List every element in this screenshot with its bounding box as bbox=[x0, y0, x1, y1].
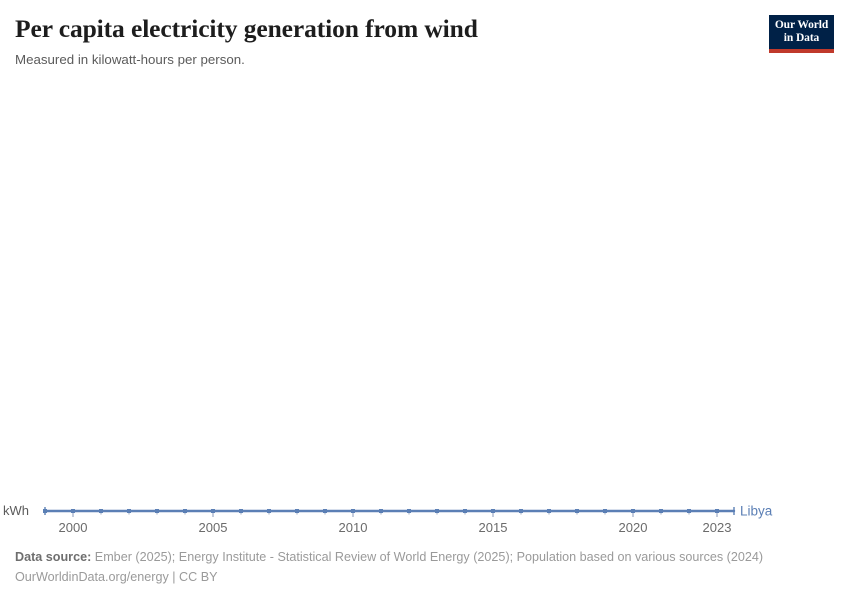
data-point-marker[interactable] bbox=[127, 509, 131, 513]
data-point-marker[interactable] bbox=[407, 509, 411, 513]
data-source-text: Ember (2025); Energy Institute - Statist… bbox=[91, 550, 763, 564]
chart-plot-area[interactable]: 200020052010201520202023 0 kWh Libya bbox=[0, 80, 850, 535]
data-point-marker[interactable] bbox=[155, 509, 159, 513]
data-point-marker[interactable] bbox=[295, 509, 299, 513]
data-point-marker[interactable] bbox=[491, 509, 495, 513]
series-group[interactable] bbox=[43, 507, 734, 515]
chart-footer: Data source: Ember (2025); Energy Instit… bbox=[15, 547, 835, 587]
series-label-libya[interactable]: Libya bbox=[740, 504, 773, 519]
data-point-marker[interactable] bbox=[267, 509, 271, 513]
data-point-marker[interactable] bbox=[463, 509, 467, 513]
y-axis-label: 0 kWh bbox=[0, 503, 45, 518]
x-axis-tick-label: 2005 bbox=[199, 520, 228, 535]
x-axis-tick-label: 2000 bbox=[59, 520, 88, 535]
data-point-marker[interactable] bbox=[519, 509, 523, 513]
x-axis-tick-label: 2015 bbox=[479, 520, 508, 535]
chart-subtitle: Measured in kilowatt-hours per person. bbox=[15, 52, 245, 67]
data-point-marker[interactable] bbox=[99, 509, 103, 513]
data-point-marker[interactable] bbox=[603, 509, 607, 513]
data-point-marker[interactable] bbox=[183, 509, 187, 513]
x-axis-tick-label: 2023 bbox=[703, 520, 732, 535]
data-point-marker[interactable] bbox=[547, 509, 551, 513]
data-point-marker[interactable] bbox=[351, 509, 355, 513]
series-end-label[interactable]: Libya bbox=[740, 504, 773, 519]
attribution-line[interactable]: OurWorldinData.org/energy | CC BY bbox=[15, 567, 835, 587]
line-chart-svg: 200020052010201520202023 0 kWh Libya bbox=[0, 80, 850, 535]
owid-logo-line1: Our World bbox=[769, 19, 834, 32]
data-point-marker[interactable] bbox=[71, 509, 75, 513]
y-axis-zero-label: 0 kWh bbox=[0, 503, 29, 518]
data-source-line: Data source: Ember (2025); Energy Instit… bbox=[15, 547, 835, 567]
data-point-marker[interactable] bbox=[379, 509, 383, 513]
data-point-marker[interactable] bbox=[323, 509, 327, 513]
owid-logo[interactable]: Our World in Data bbox=[769, 15, 834, 53]
page-title: Per capita electricity generation from w… bbox=[15, 14, 478, 44]
data-point-marker[interactable] bbox=[687, 509, 691, 513]
x-axis-tick-label: 2020 bbox=[619, 520, 648, 535]
data-point-marker[interactable] bbox=[631, 509, 635, 513]
data-point-marker[interactable] bbox=[239, 509, 243, 513]
data-point-marker[interactable] bbox=[575, 509, 579, 513]
x-axis-tick-label: 2010 bbox=[339, 520, 368, 535]
data-point-marker[interactable] bbox=[211, 509, 215, 513]
data-point-marker[interactable] bbox=[435, 509, 439, 513]
data-point-marker[interactable] bbox=[659, 509, 663, 513]
x-axis-tick-labels: 200020052010201520202023 bbox=[59, 520, 732, 535]
data-source-label: Data source: bbox=[15, 550, 91, 564]
chart-header: Per capita electricity generation from w… bbox=[0, 0, 850, 80]
owid-logo-line2: in Data bbox=[769, 32, 834, 45]
